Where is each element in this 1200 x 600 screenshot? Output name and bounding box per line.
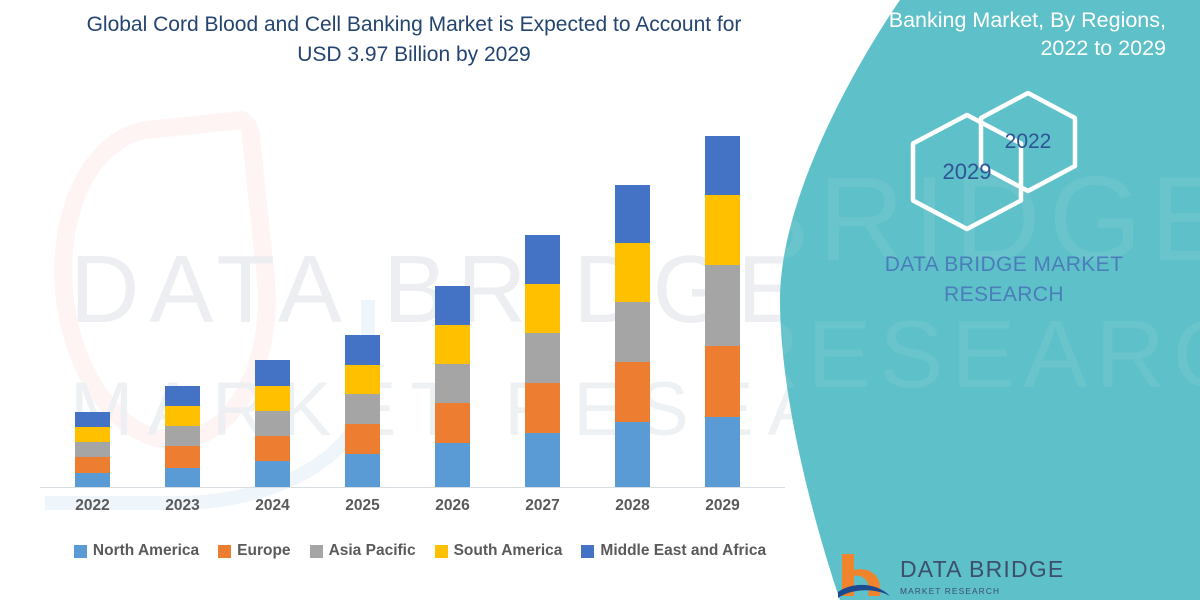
legend-swatch-icon <box>74 545 87 558</box>
x-axis-label-2028: 2028 <box>598 497 668 515</box>
x-axis-label-2024: 2024 <box>238 497 308 515</box>
x-axis-label-2029: 2029 <box>688 497 758 515</box>
legend-item-south-america[interactable]: South America <box>435 542 563 560</box>
x-axis-labels: 20222023202420252026202720282029 <box>40 497 785 521</box>
legend-item-north-america[interactable]: North America <box>74 542 199 560</box>
bar-segment-2026-europe <box>435 403 470 443</box>
bar-segment-2026-north-america <box>435 443 470 488</box>
bar-segment-2029-europe <box>705 346 740 417</box>
legend-swatch-icon <box>310 545 323 558</box>
hexagon-group: 2029 2022 <box>780 90 1200 240</box>
panel-title: Banking Market, By Regions, 2022 to 2029 <box>836 6 1166 63</box>
bar-2022 <box>75 412 110 488</box>
company-logo: DATA BRIDGE MARKET RESEARCH <box>838 552 1138 600</box>
bar-segment-2024-europe <box>255 436 290 462</box>
bar-segment-2022-middle-east-and-africa <box>75 412 110 427</box>
bar-2026 <box>435 286 470 488</box>
bar-segment-2027-middle-east-and-africa <box>525 235 560 284</box>
bar-segment-2029-asia-pacific <box>705 265 740 347</box>
bar-segment-2026-asia-pacific <box>435 364 470 403</box>
x-axis-label-2022: 2022 <box>58 497 128 515</box>
logo-text-line1: DATA BRIDGE <box>900 556 1064 583</box>
bar-segment-2024-north-america <box>255 461 290 488</box>
bar-segment-2023-south-america <box>165 406 200 426</box>
bar-segment-2026-south-america <box>435 325 470 364</box>
bar-2024 <box>255 360 290 488</box>
bar-segment-2025-asia-pacific <box>345 394 380 424</box>
bar-segment-2025-europe <box>345 424 380 454</box>
bar-segment-2023-middle-east-and-africa <box>165 386 200 406</box>
x-axis-label-2023: 2023 <box>148 497 218 515</box>
bar-2028 <box>615 185 650 488</box>
x-axis-label-2025: 2025 <box>328 497 398 515</box>
x-axis-label-2027: 2027 <box>508 497 578 515</box>
bar-segment-2023-asia-pacific <box>165 426 200 446</box>
bar-segment-2024-asia-pacific <box>255 411 290 436</box>
infographic-page: DATA BRIDGE MARKET RESEARCH Global Cord … <box>0 0 1200 600</box>
bar-segment-2029-north-america <box>705 417 740 488</box>
hexagon-2022: 2022 <box>976 90 1080 194</box>
bar-segment-2026-middle-east-and-africa <box>435 286 470 325</box>
bar-segment-2027-south-america <box>525 284 560 333</box>
legend-label: Middle East and Africa <box>600 542 766 560</box>
bar-segment-2022-europe <box>75 457 110 473</box>
bar-2029 <box>705 136 740 488</box>
legend-item-middle-east-and-africa[interactable]: Middle East and Africa <box>581 542 766 560</box>
bar-segment-2028-middle-east-and-africa <box>615 185 650 244</box>
bar-segment-2028-europe <box>615 362 650 422</box>
bar-segment-2022-north-america <box>75 473 110 488</box>
bar-segment-2027-asia-pacific <box>525 333 560 384</box>
panel-brand-name: DATA BRIDGE MARKET RESEARCH <box>834 250 1174 310</box>
bar-segment-2028-south-america <box>615 243 650 302</box>
legend-label: Europe <box>237 542 290 560</box>
legend-label: North America <box>93 542 199 560</box>
legend-item-asia-pacific[interactable]: Asia Pacific <box>310 542 416 560</box>
bar-2025 <box>345 335 380 488</box>
bar-segment-2022-asia-pacific <box>75 442 110 457</box>
bar-segment-2028-north-america <box>615 422 650 488</box>
bar-segment-2029-south-america <box>705 195 740 264</box>
bar-segment-2029-middle-east-and-africa <box>705 136 740 195</box>
bar-segment-2028-asia-pacific <box>615 302 650 362</box>
logo-text: DATA BRIDGE MARKET RESEARCH <box>900 556 1064 596</box>
bar-2027 <box>525 235 560 488</box>
plot-bars <box>40 100 780 488</box>
x-axis-label-2026: 2026 <box>418 497 488 515</box>
legend-swatch-icon <box>218 545 231 558</box>
legend-label: Asia Pacific <box>329 542 416 560</box>
bar-segment-2027-europe <box>525 383 560 433</box>
bar-segment-2025-middle-east-and-africa <box>345 335 380 365</box>
bar-segment-2025-south-america <box>345 365 380 394</box>
x-axis-line <box>40 487 785 488</box>
chart-legend: North AmericaEuropeAsia PacificSouth Ame… <box>40 538 800 564</box>
logo-text-line2: MARKET RESEARCH <box>900 586 1064 596</box>
bar-2023 <box>165 386 200 488</box>
legend-item-europe[interactable]: Europe <box>218 542 290 560</box>
hexagon-2022-label: 2022 <box>1005 130 1052 154</box>
bar-segment-2027-north-america <box>525 433 560 488</box>
bar-segment-2024-middle-east-and-africa <box>255 360 290 386</box>
bar-segment-2023-europe <box>165 446 200 467</box>
legend-swatch-icon <box>581 545 594 558</box>
bar-segment-2024-south-america <box>255 386 290 411</box>
bar-segment-2025-north-america <box>345 454 380 488</box>
legend-swatch-icon <box>435 545 448 558</box>
bar-segment-2022-south-america <box>75 427 110 442</box>
legend-label: South America <box>454 542 563 560</box>
hexagon-2029-label: 2029 <box>943 159 992 185</box>
chart-area: 20222023202420252026202720282029 North A… <box>0 0 800 600</box>
panel-watermark-bottom: RESEARCH <box>730 300 1200 410</box>
logo-mark-icon <box>838 552 890 600</box>
bar-segment-2023-north-america <box>165 468 200 488</box>
